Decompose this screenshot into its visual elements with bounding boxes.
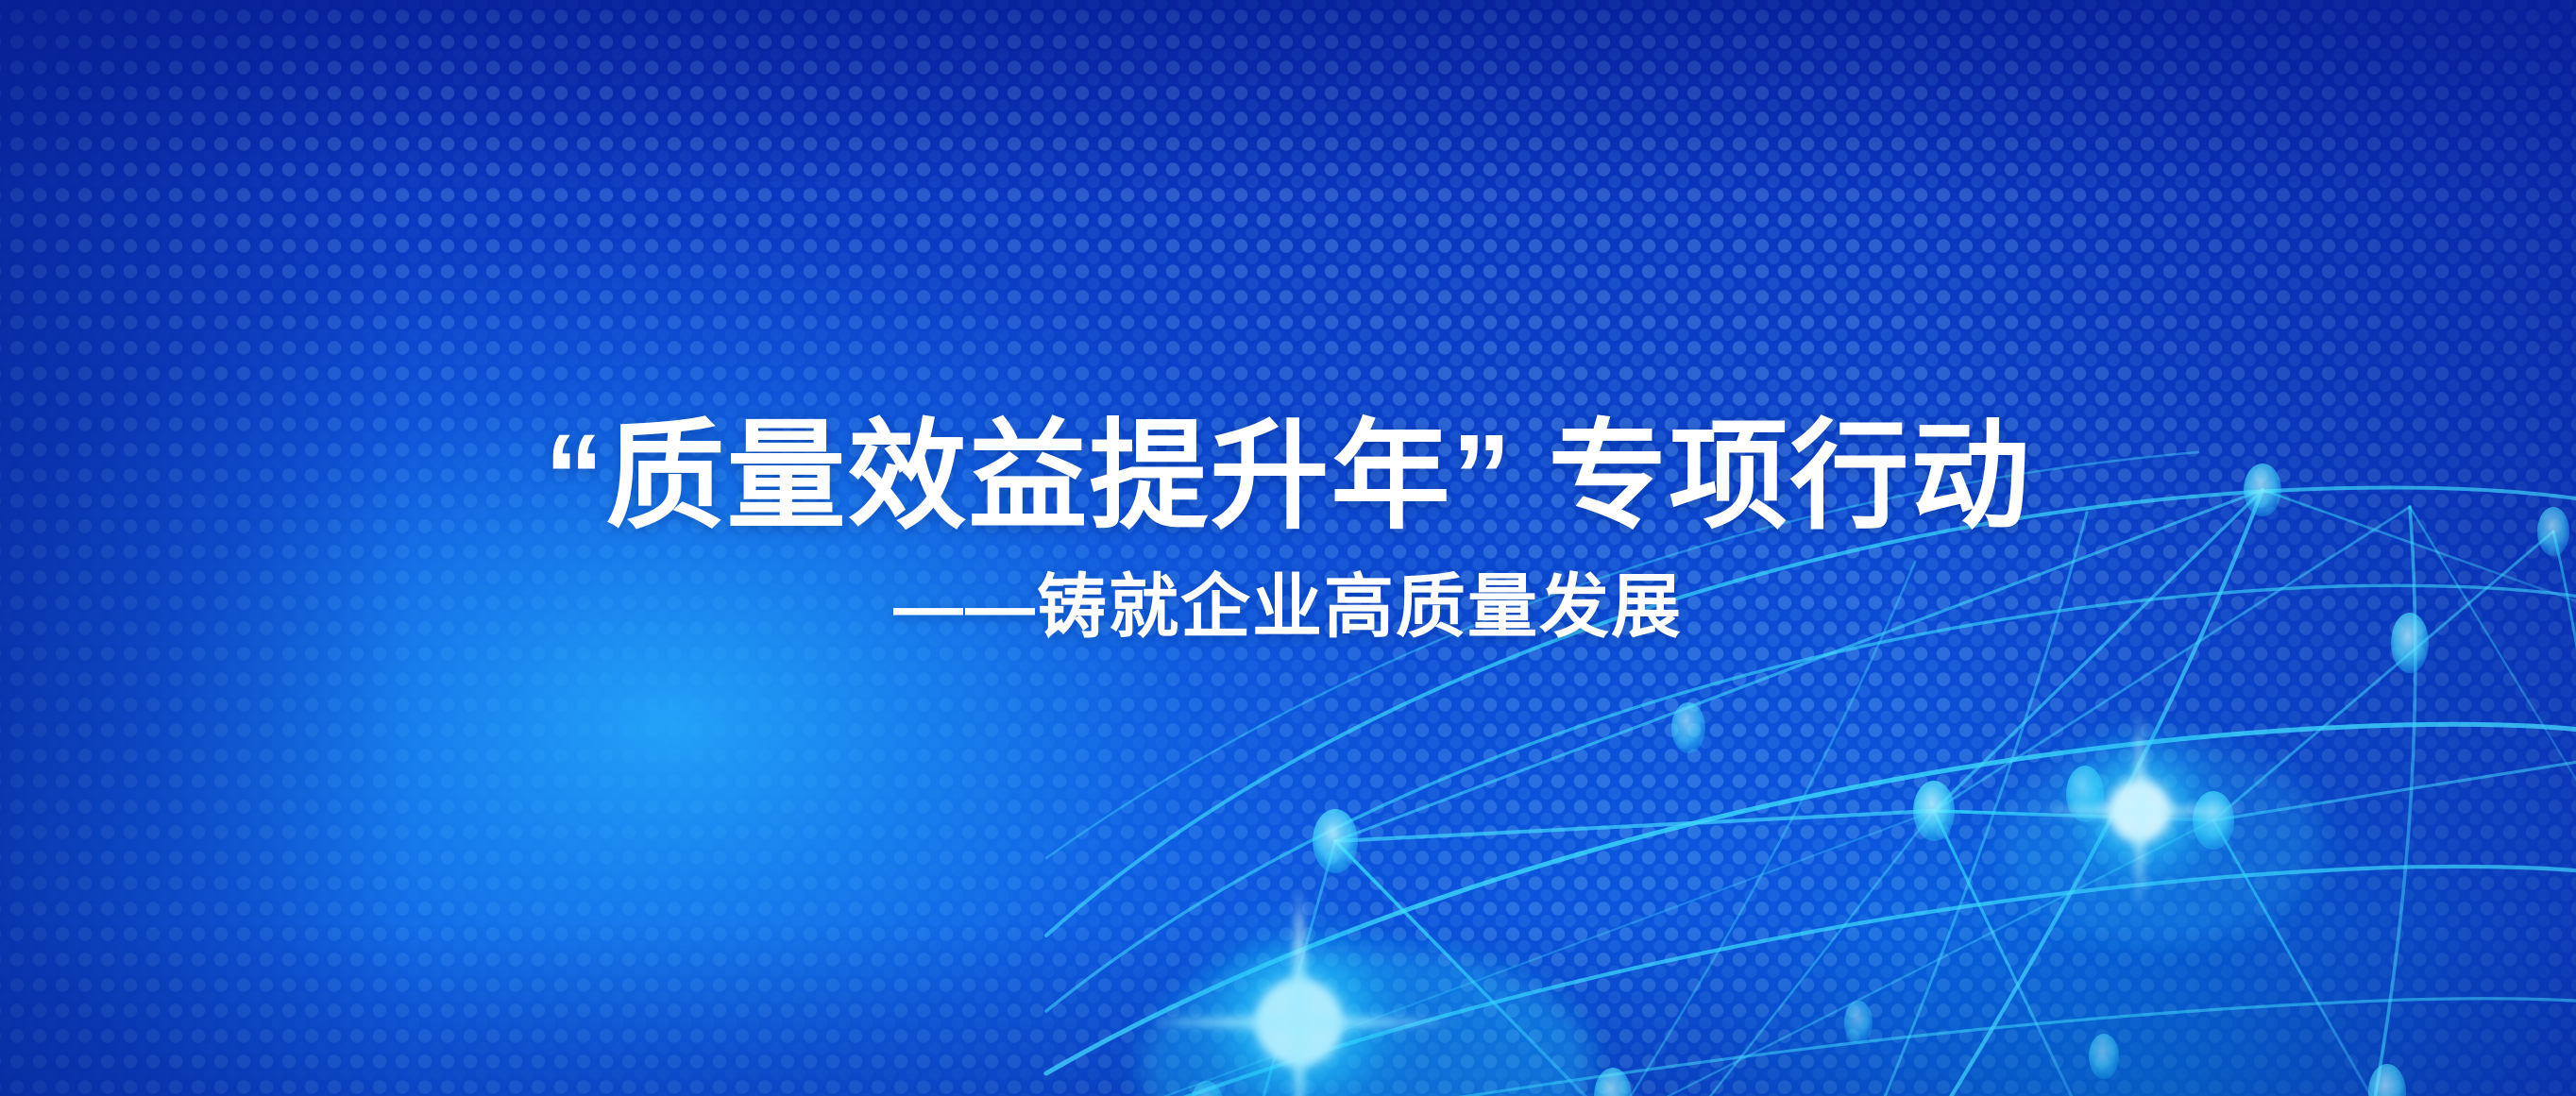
banner-text-block: “质量效益提升年” 专项行动 ——铸就企业高质量发展 bbox=[0, 413, 2576, 645]
banner-subtitle: ——铸就企业高质量发展 bbox=[0, 568, 2576, 645]
banner-title: “质量效益提升年” 专项行动 bbox=[0, 413, 2576, 540]
promo-banner: “质量效益提升年” 专项行动 ——铸就企业高质量发展 bbox=[0, 0, 2576, 1096]
